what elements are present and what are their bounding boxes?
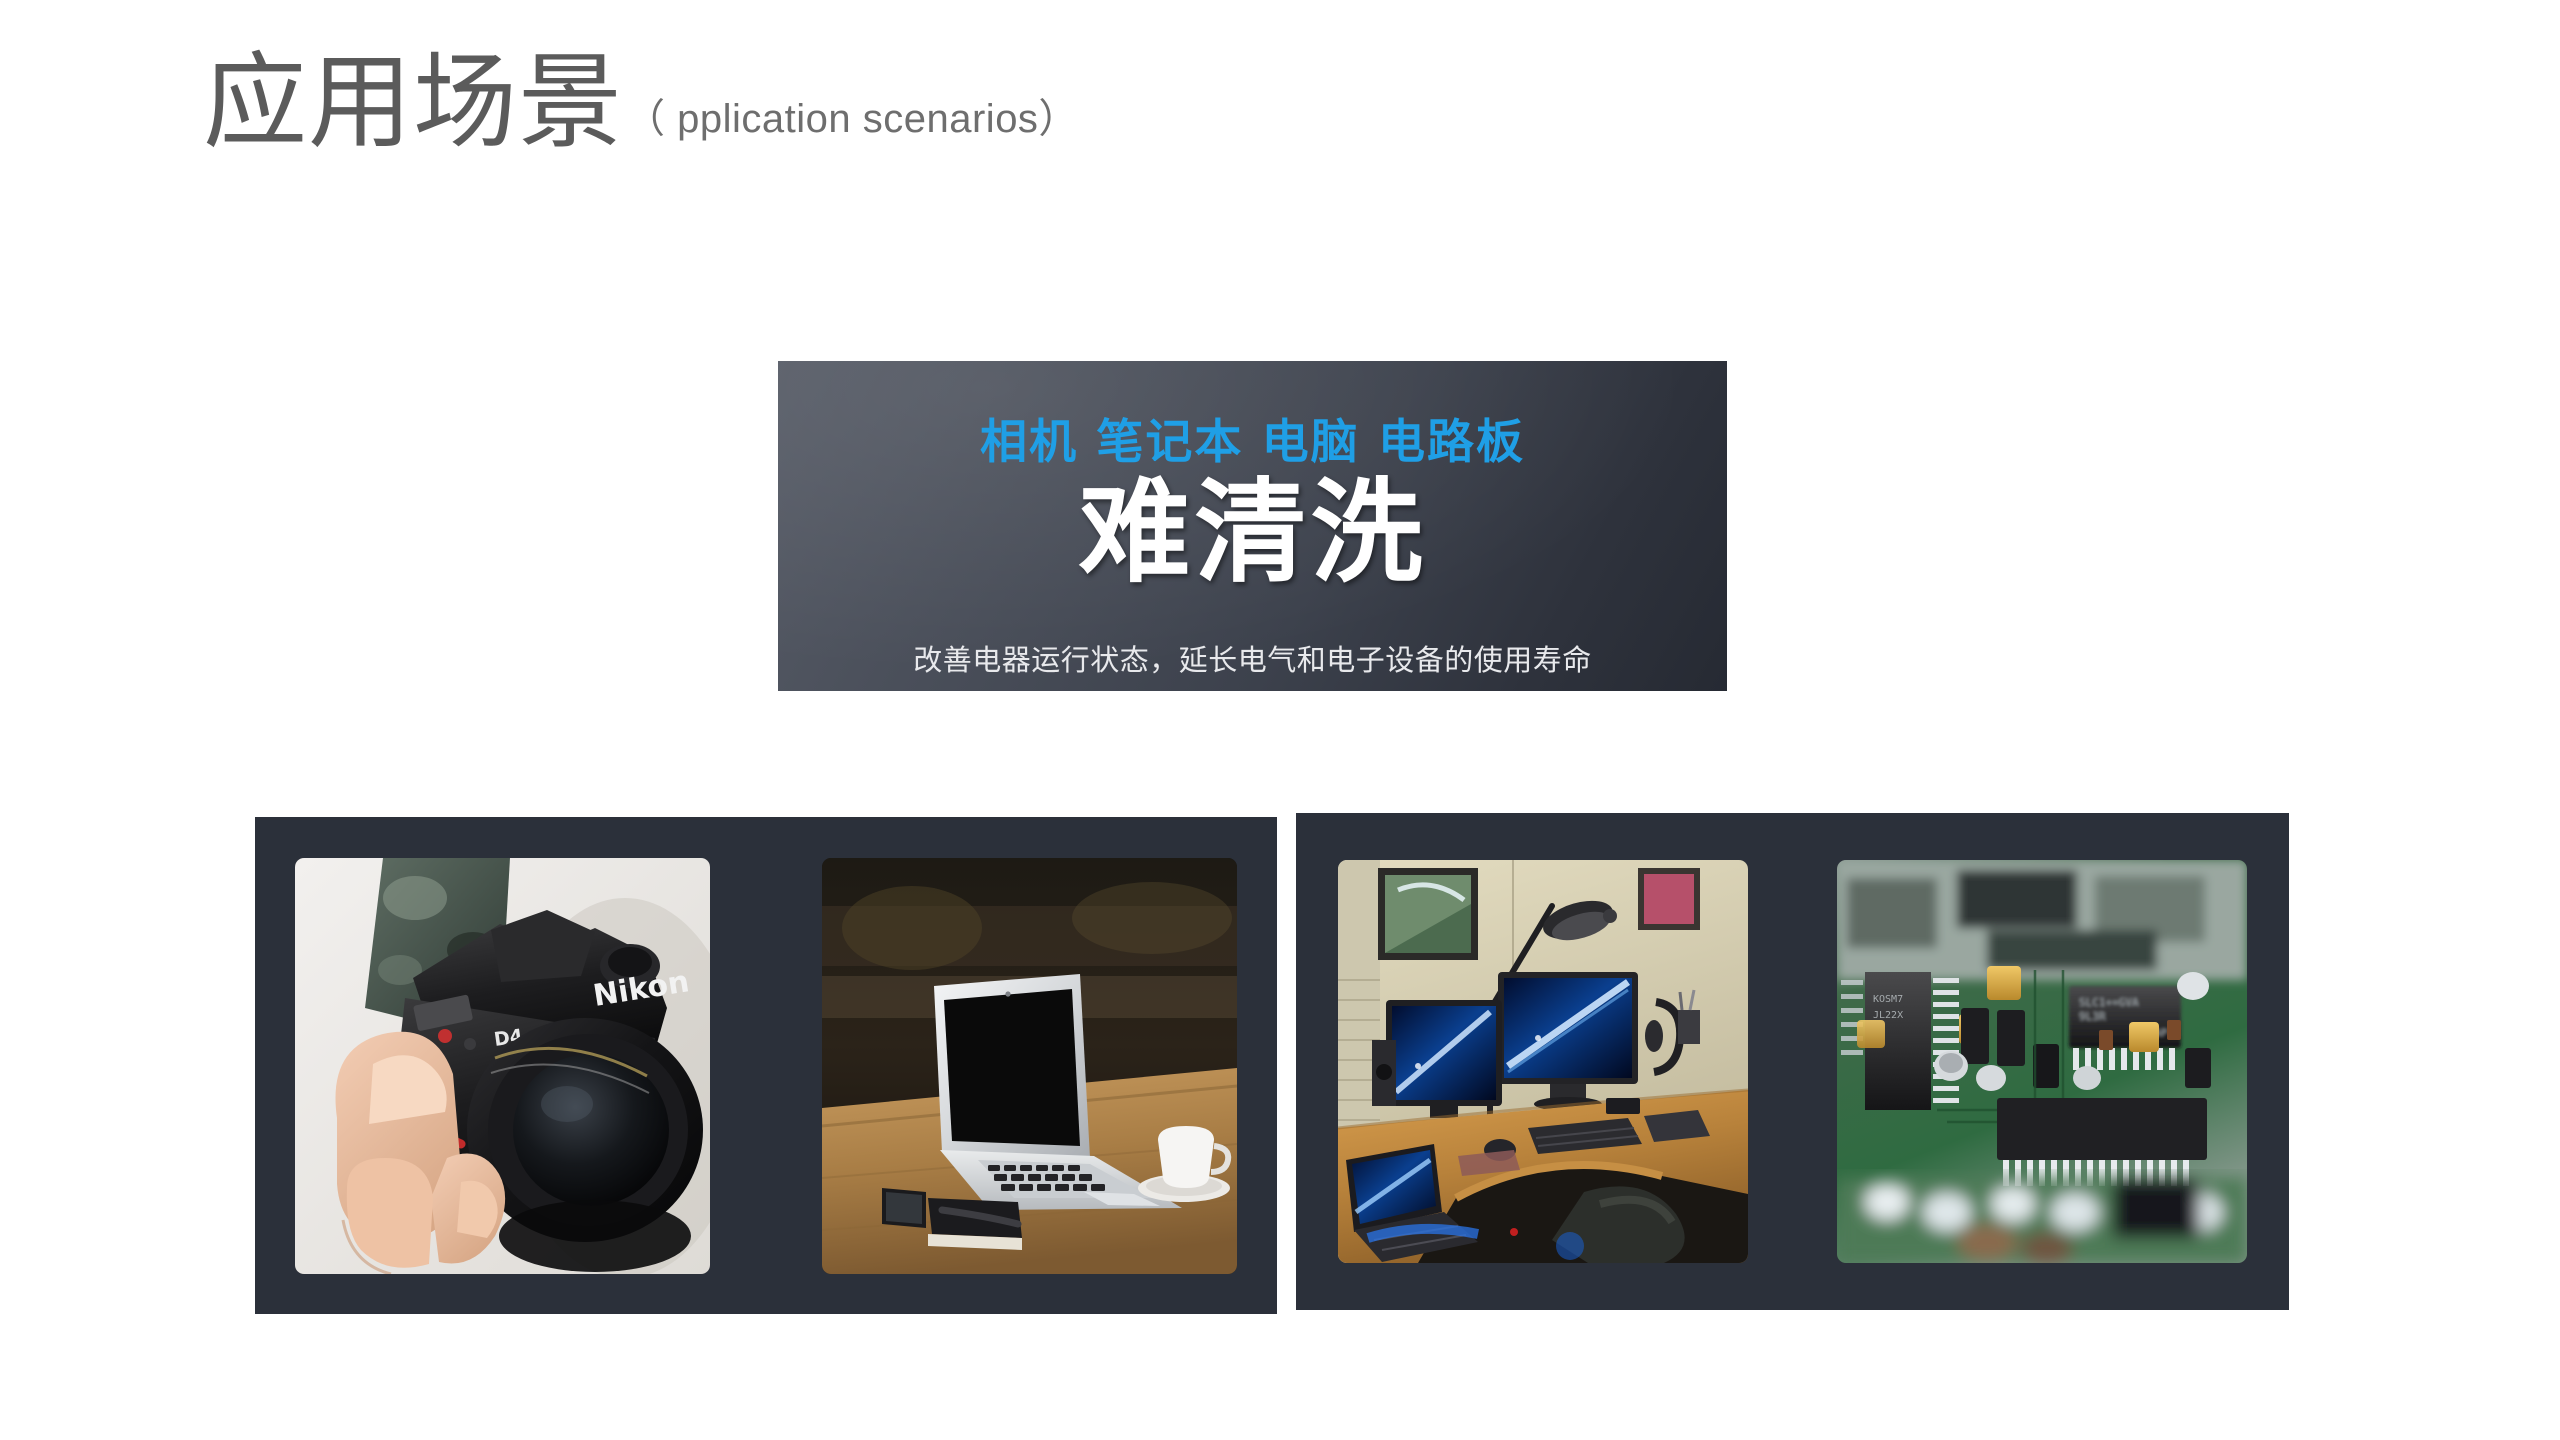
svg-text:KOSM7: KOSM7 [1873, 994, 1903, 1005]
hero-caption-text: 改善电器运行状态，延长电气和电子设备的使用寿命 [778, 637, 1727, 679]
camera-photo-illustration: Nikon D4 [295, 858, 710, 1274]
svg-text:JL22X: JL22X [1873, 1010, 1903, 1021]
photo-circuit-board: KOSM7 JL22X SLC1+=GVA 9L3R AP [1837, 860, 2247, 1263]
page-title: 应用场景 （ pplication scenarios） [203, 50, 1079, 154]
page-title-chinese: 应用场景 [203, 50, 623, 154]
photo-desktop-setup [1338, 860, 1748, 1263]
photo-camera: Nikon D4 [295, 858, 710, 1274]
svg-text:SLC1+=GVA: SLC1+=GVA [2079, 996, 2139, 1009]
circuit-board-illustration: KOSM7 JL22X SLC1+=GVA 9L3R AP [1837, 860, 2247, 1263]
svg-text:9L3R: 9L3R [2079, 1010, 2106, 1023]
hero-kicker-text: 相机 笔记本 电脑 电路板 [778, 403, 1727, 472]
camera-and-laptop-panel: Nikon D4 [255, 817, 1277, 1314]
hero-headline-text: 难清洗 [778, 471, 1727, 596]
page-title-english: （ pplication scenarios） [625, 86, 1079, 144]
photo-laptop [822, 858, 1237, 1274]
desktop-and-circuit-board-panel: KOSM7 JL22X SLC1+=GVA 9L3R AP [1296, 813, 2289, 1310]
hero-banner: 相机 笔记本 电脑 电路板 难清洗 改善电器运行状态，延长电气和电子设备的使用寿… [778, 361, 1727, 691]
desktop-setup-illustration [1338, 860, 1748, 1263]
laptop-photo-illustration [822, 858, 1237, 1274]
